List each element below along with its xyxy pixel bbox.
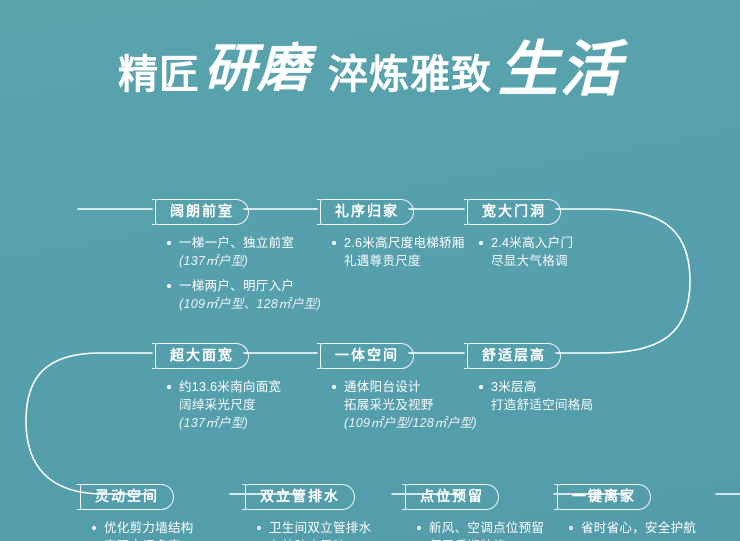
bullet-main: 2.6米高尺度电梯轿厢 [332,234,465,252]
bullet-sub-2: (109㎡户型/128㎡户型) [332,414,477,432]
bullet-group: 一梯两户、明厅入户 (109㎡户型、128㎡户型) [167,277,321,313]
bullet-group: 卫生间双立管排水 有效防止异味 [257,519,371,541]
bullet-group: 约13.6米南向面宽 阔绰采光尺度 (137㎡户型) [167,378,281,432]
bullet-main: 约13.6米南向面宽 [167,378,281,396]
bullet-sub: 实现空间多变 [92,537,194,541]
node-bullets: 一梯一户、独立前室 (137㎡户型) 一梯两户、明厅入户 (109㎡户型、128… [155,234,321,313]
bullet-sub: 尽显大气格调 [479,252,573,270]
node-label: 宽大门洞 [467,199,561,225]
node-bullets: 新风、空调点位预留 便于后期装修 [405,519,544,541]
node-lixu-guijia[interactable]: 礼序归家 2.6米高尺度电梯轿厢 礼遇尊贵尺度 [320,199,465,270]
title-segment-3: 淬炼雅致 [328,55,492,95]
bullet-main: 优化剪力墙结构 [92,519,194,537]
node-bullets: 省时省心，安全护航 [557,519,696,537]
page-title: 精匠研磨淬炼雅致生活 [0,36,740,96]
node-yijian-lijia[interactable]: 一键离家 省时省心，安全护航 [557,484,696,537]
bullet-sub: (109㎡户型、128㎡户型) [167,295,321,313]
bullet-sub: 打造舒适空间格局 [479,396,593,414]
bullet-main: 通体阳台设计 [332,378,477,396]
bullet-main: 一梯两户、明厅入户 [167,277,321,295]
node-label: 舒适层高 [467,343,561,369]
node-bullets: 2.4米高入户门 尽显大气格调 [467,234,573,270]
bullet-group: 2.4米高入户门 尽显大气格调 [479,234,573,270]
bullet-group: 一梯一户、独立前室 (137㎡户型) [167,234,321,270]
node-label: 一体空间 [320,343,414,369]
bullet-main: 2.4米高入户门 [479,234,573,252]
node-bullets: 3米层高 打造舒适空间格局 [467,378,593,414]
bullet-sub: 有效防止异味 [257,537,371,541]
title-segment-1: 精匠 [118,55,200,95]
node-bullets: 2.6米高尺度电梯轿厢 礼遇尊贵尺度 [320,234,465,270]
node-chaoda-mianku[interactable]: 超大面宽 约13.6米南向面宽 阔绰采光尺度 (137㎡户型) [155,343,281,432]
bullet-main: 新风、空调点位预留 [417,519,544,537]
node-bullets: 优化剪力墙结构 实现空间多变 [80,519,194,541]
title-segment-4: 生活 [498,40,622,100]
node-dianwei-yuliu[interactable]: 点位预留 新风、空调点位预留 便于后期装修 [405,484,544,541]
node-label: 灵动空间 [80,484,174,510]
node-shushi-cenggao[interactable]: 舒适层高 3米层高 打造舒适空间格局 [467,343,593,414]
node-label: 礼序归家 [320,199,414,225]
node-label: 超大面宽 [155,343,249,369]
node-lingdong-kongjian[interactable]: 灵动空间 优化剪力墙结构 实现空间多变 [80,484,194,541]
node-shuangliguan-paishui[interactable]: 双立管排水 卫生间双立管排水 有效防止异味 [245,484,371,541]
bullet-main: 卫生间双立管排水 [257,519,371,537]
bullet-group: 新风、空调点位预留 便于后期装修 [417,519,544,541]
bullet-group: 2.6米高尺度电梯轿厢 礼遇尊贵尺度 [332,234,465,270]
poster-page: 精匠研磨淬炼雅致生活 阔朗前室 一梯一户、独立前室 (137㎡户型) 一梯两户、… [0,0,740,541]
bullet-group: 省时省心，安全护航 [569,519,696,537]
node-bullets: 卫生间双立管排水 有效防止异味 [245,519,371,541]
node-kuanda-mendong[interactable]: 宽大门洞 2.4米高入户门 尽显大气格调 [467,199,573,270]
bullet-main: 3米层高 [479,378,593,396]
bullet-sub: 礼遇尊贵尺度 [332,252,465,270]
node-kuolang-qianshi[interactable]: 阔朗前室 一梯一户、独立前室 (137㎡户型) 一梯两户、明厅入户 (109㎡户… [155,199,321,313]
node-label: 一键离家 [557,484,651,510]
bullet-group: 优化剪力墙结构 实现空间多变 [92,519,194,541]
node-label: 点位预留 [405,484,499,510]
bullet-sub: 拓展采光及视野 [332,396,477,414]
bullet-sub: (137㎡户型) [167,252,321,270]
bullet-group: 通体阳台设计 拓展采光及视野 (109㎡户型/128㎡户型) [332,378,477,432]
node-bullets: 通体阳台设计 拓展采光及视野 (109㎡户型/128㎡户型) [320,378,477,432]
bullet-sub-2: (137㎡户型) [167,414,281,432]
bullet-main: 一梯一户、独立前室 [167,234,321,252]
node-bullets: 约13.6米南向面宽 阔绰采光尺度 (137㎡户型) [155,378,281,432]
bullet-sub: 便于后期装修 [417,537,544,541]
bullet-sub: 阔绰采光尺度 [167,396,281,414]
bullet-group: 3米层高 打造舒适空间格局 [479,378,593,414]
node-label: 阔朗前室 [155,199,249,225]
node-label: 双立管排水 [245,484,355,510]
node-yiti-kongjian[interactable]: 一体空间 通体阳台设计 拓展采光及视野 (109㎡户型/128㎡户型) [320,343,477,432]
title-segment-2: 研磨 [204,43,310,95]
bullet-main: 省时省心，安全护航 [569,519,696,537]
